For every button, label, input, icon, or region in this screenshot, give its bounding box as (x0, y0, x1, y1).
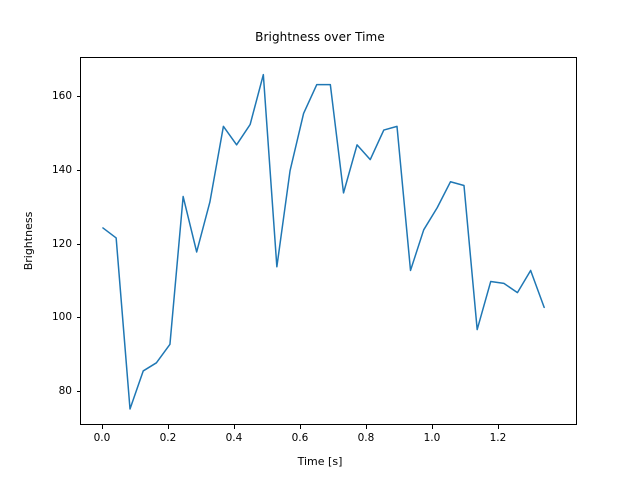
x-axis-label: Time [s] (0, 455, 640, 468)
x-tick-label: 0.0 (94, 432, 111, 444)
x-tick-label: 0.4 (226, 432, 243, 444)
y-axis-label: Brightness (22, 57, 35, 425)
data-series-line (103, 75, 544, 409)
y-tick-label: 100 (38, 311, 72, 323)
plot-area (80, 57, 577, 425)
y-tick-label: 160 (38, 90, 72, 102)
y-tick-label: 80 (38, 385, 72, 397)
y-tick-label: 140 (38, 164, 72, 176)
x-tick-label: 0.6 (292, 432, 309, 444)
chart-figure: Brightness over Time Brightness 80100120… (0, 0, 640, 480)
line-plot-svg (81, 58, 578, 426)
x-tick-label: 0.2 (160, 432, 177, 444)
x-tick-label: 0.8 (358, 432, 375, 444)
y-tick-label: 120 (38, 238, 72, 250)
x-tick-label: 1.0 (424, 432, 441, 444)
chart-title: Brightness over Time (0, 30, 640, 44)
x-tick-label: 1.2 (490, 432, 507, 444)
